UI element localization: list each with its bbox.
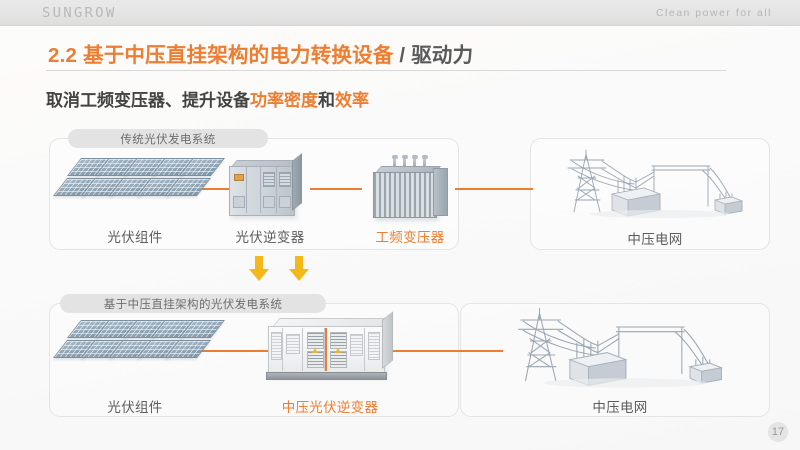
- row1-caption-pv: 光伏组件: [60, 226, 210, 246]
- transmission-grid-icon: [505, 306, 735, 390]
- row2-grid-graphic: [505, 306, 735, 395]
- arrow-down-icon: [248, 256, 270, 282]
- arrow-down-icon: [288, 256, 310, 282]
- row2-caption-inverter: 中压光伏逆变器: [255, 396, 405, 416]
- down-arrow-left: [248, 256, 270, 282]
- title-divider: [46, 70, 726, 71]
- title-separator: /: [399, 44, 405, 67]
- row1-caption-transformer: 工频变压器: [345, 226, 475, 246]
- row1-caption-grid: 中压电网: [580, 228, 730, 248]
- row2-caption-pv: 光伏组件: [60, 396, 210, 416]
- title-main: 基于中压直挂架构的电力转换设备: [83, 44, 394, 67]
- subtitle-part2: 和: [318, 91, 335, 110]
- title-number: 2.2: [48, 44, 77, 67]
- row2-wire-inverter-to-grid: [393, 350, 503, 352]
- slide-canvas: SUNGROW Clean power for all 2.2 基于中压直挂架构…: [0, 0, 800, 450]
- subtitle-highlight2: 效率: [335, 91, 369, 110]
- row2-section-pill: 基于中压直挂架构的光伏发电系统: [60, 294, 326, 313]
- title-suffix: 驱动力: [411, 44, 473, 67]
- sungrow-logo: SUNGROW: [42, 5, 116, 21]
- row1-wire-inverter-to-transformer: [310, 188, 362, 190]
- row1-caption-inverter: 光伏逆变器: [195, 226, 345, 246]
- subtitle-part1: 取消工频变压器、提升设备: [46, 91, 250, 110]
- row1-grid-graphic: [560, 148, 750, 225]
- down-arrow-right: [288, 256, 310, 282]
- row1-wire-transformer-to-grid: [455, 188, 533, 190]
- header-tagline: Clean power for all: [656, 7, 772, 19]
- page-number-badge: 17: [768, 422, 788, 442]
- subtitle-highlight1: 功率密度: [250, 91, 318, 110]
- row1-section-pill: 传统光伏发电系统: [68, 129, 268, 148]
- page-title: 2.2 基于中压直挂架构的电力转换设备 / 驱动力: [48, 38, 473, 68]
- row2-caption-grid: 中压电网: [545, 396, 695, 416]
- page-subtitle: 取消工频变压器、提升设备功率密度和效率: [46, 86, 369, 111]
- transmission-grid-icon: [560, 148, 750, 220]
